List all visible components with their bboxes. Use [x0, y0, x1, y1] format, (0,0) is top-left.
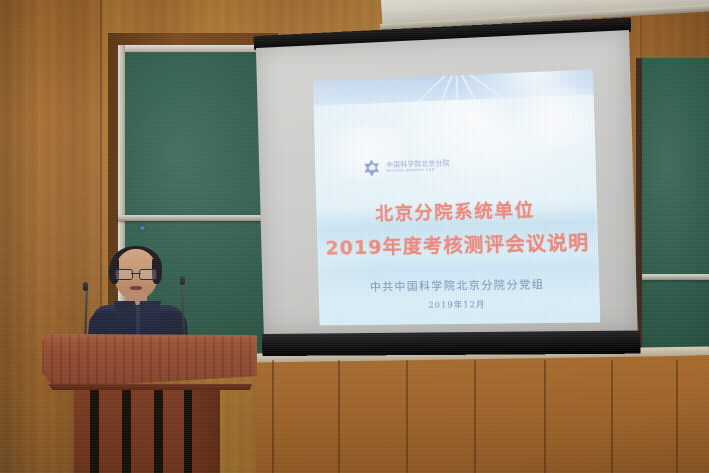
- lower-panel-seam: [272, 360, 274, 473]
- lectern-wood-grain: [42, 334, 257, 388]
- lower-panel-seam: [406, 360, 408, 473]
- presenter-mouth: [130, 286, 142, 290]
- slide-logo-chinese: 中国科学院北京分院: [386, 160, 450, 169]
- slide-title-line-2: 2019年度考核测评会议说明: [317, 228, 598, 261]
- slide-date: 2019年12月: [319, 297, 600, 312]
- chalkboard-top-rail: [118, 45, 276, 52]
- chalk-rail-right: [642, 274, 709, 280]
- glasses-lens-right: [139, 269, 157, 280]
- glasses-lens-left: [115, 269, 133, 280]
- lower-panel-seam: [474, 360, 476, 473]
- slide-logo-english: BEIJING BRANCH CAS: [387, 168, 450, 174]
- lower-panel-seam: [338, 360, 340, 473]
- lectern-base-side: [192, 390, 220, 473]
- lower-panel-seam: [676, 360, 678, 473]
- microphone-right-head: [180, 276, 185, 285]
- chalk-rail-left: [118, 215, 276, 221]
- screen-bottom-bar: [262, 330, 641, 356]
- lectern: [42, 334, 257, 473]
- lectern-slat: [154, 390, 163, 473]
- presenter-glasses: [115, 269, 157, 278]
- photo-scene: 中国科学院北京分院 BEIJING BRANCH CAS 北京分院系统单位 20…: [0, 0, 709, 473]
- slide-logo: 中国科学院北京分院 BEIJING BRANCH CAS: [362, 156, 450, 178]
- projection-screen: 中国科学院北京分院 BEIJING BRANCH CAS 北京分院系统单位 20…: [254, 17, 641, 356]
- lower-panel-seam: [544, 360, 546, 473]
- magnet-blue: [140, 226, 145, 230]
- lectern-slat: [90, 390, 99, 473]
- screen-surface: 中国科学院北京分院 BEIJING BRANCH CAS 北京分院系统单位 20…: [256, 30, 638, 334]
- lectern-base: [74, 390, 198, 473]
- chalkboard-right: [636, 58, 709, 358]
- lower-wall-paneling: [256, 356, 709, 473]
- lectern-slat: [122, 390, 131, 473]
- cas-emblem-icon: [362, 158, 382, 178]
- slide: 中国科学院北京分院 BEIJING BRANCH CAS 北京分院系统单位 20…: [313, 69, 600, 325]
- slide-logo-text: 中国科学院北京分院 BEIJING BRANCH CAS: [386, 160, 450, 174]
- microphone-left-head: [83, 282, 88, 291]
- lower-panel-seam: [611, 360, 613, 473]
- chalkboard-right-surface: [642, 58, 709, 358]
